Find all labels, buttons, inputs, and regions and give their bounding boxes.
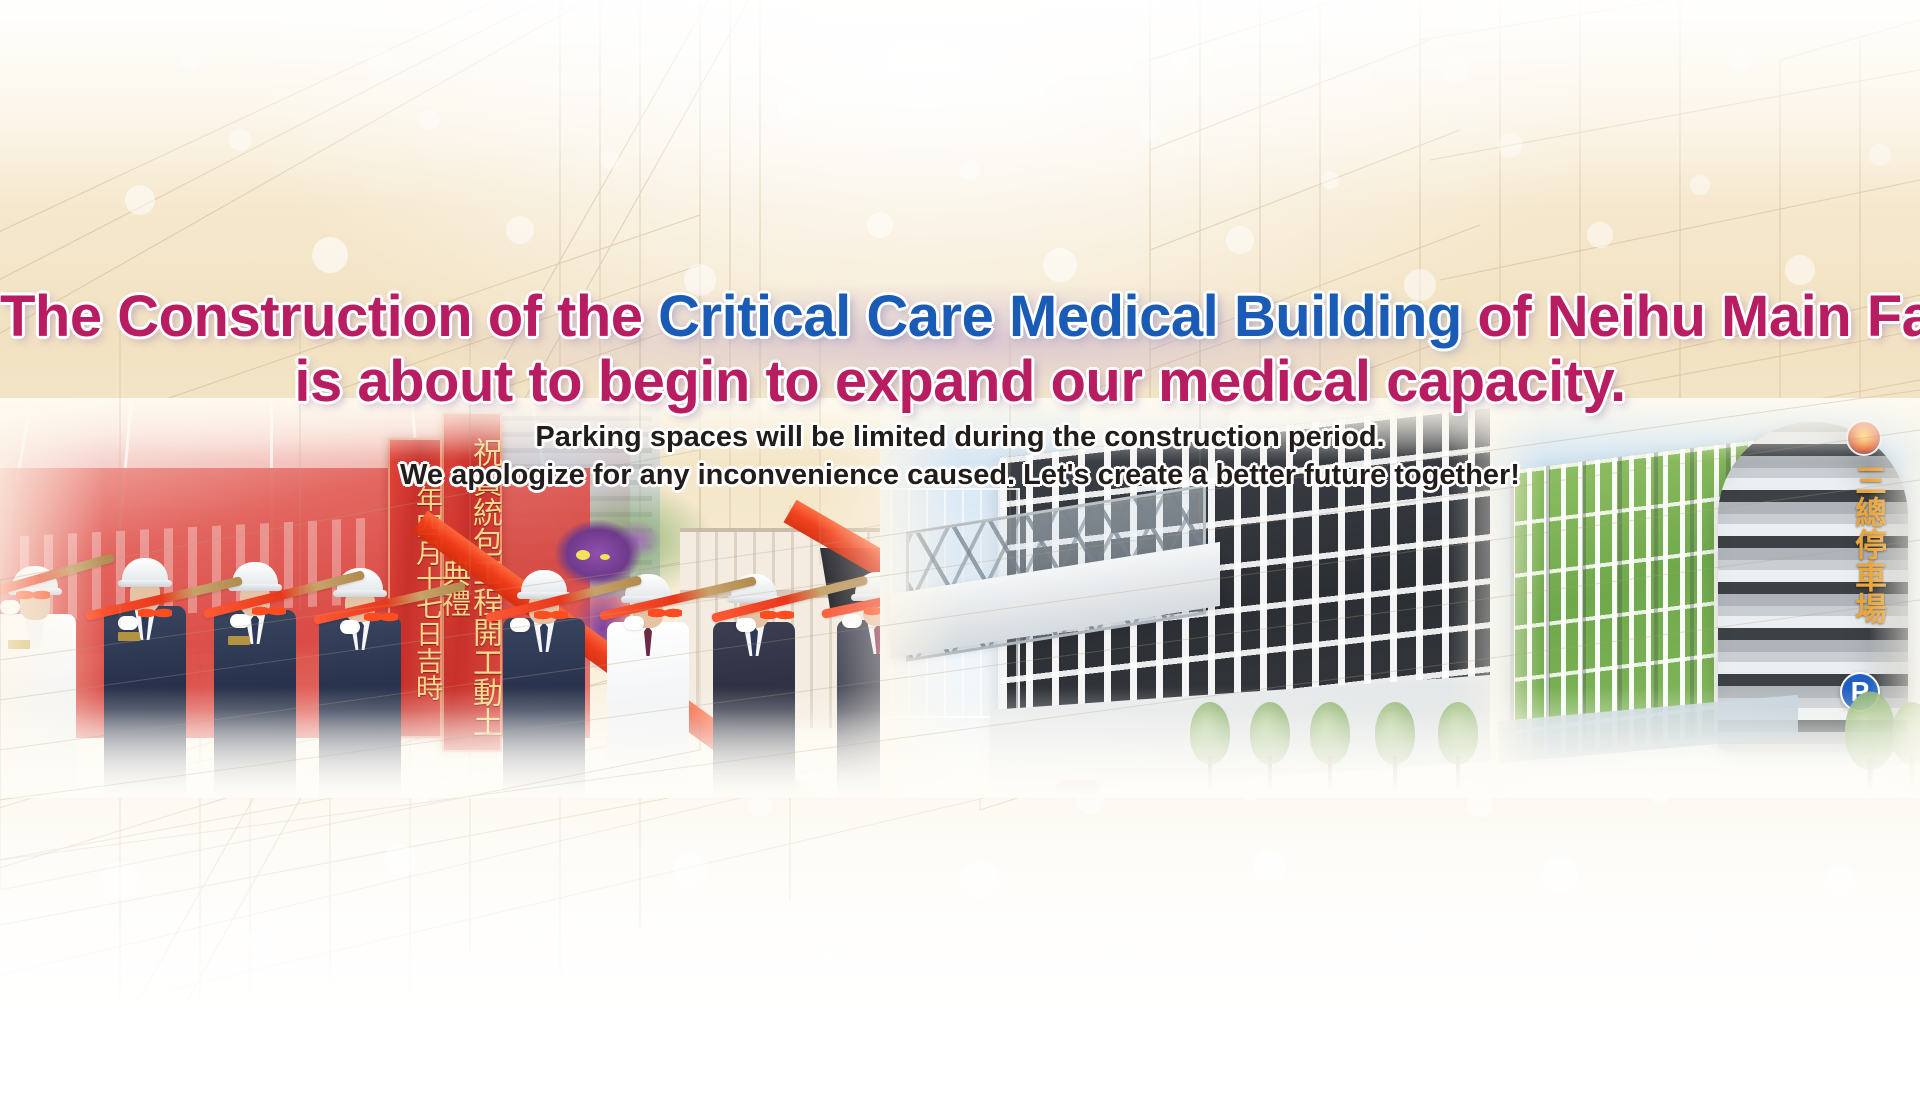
hospital-emblem-icon <box>1846 420 1882 456</box>
headline: The Construction of the Critical Care Me… <box>0 286 1920 413</box>
parking-sign-text: 三總停車場 <box>1842 464 1886 624</box>
headline-part-2: of Neihu Main Facility <box>1462 284 1920 349</box>
headline-highlight: Critical Care Medical Building <box>658 284 1462 349</box>
top-fade-overlay <box>0 0 1920 210</box>
headline-glow <box>0 270 1920 410</box>
headline-part-1: The Construction of the <box>0 284 658 349</box>
bottom-fade-overlay <box>0 690 1920 1120</box>
construction-announcement-banner: 祝賀統包工程開工動土典禮 年四月十七日吉時 <box>0 0 1920 1120</box>
